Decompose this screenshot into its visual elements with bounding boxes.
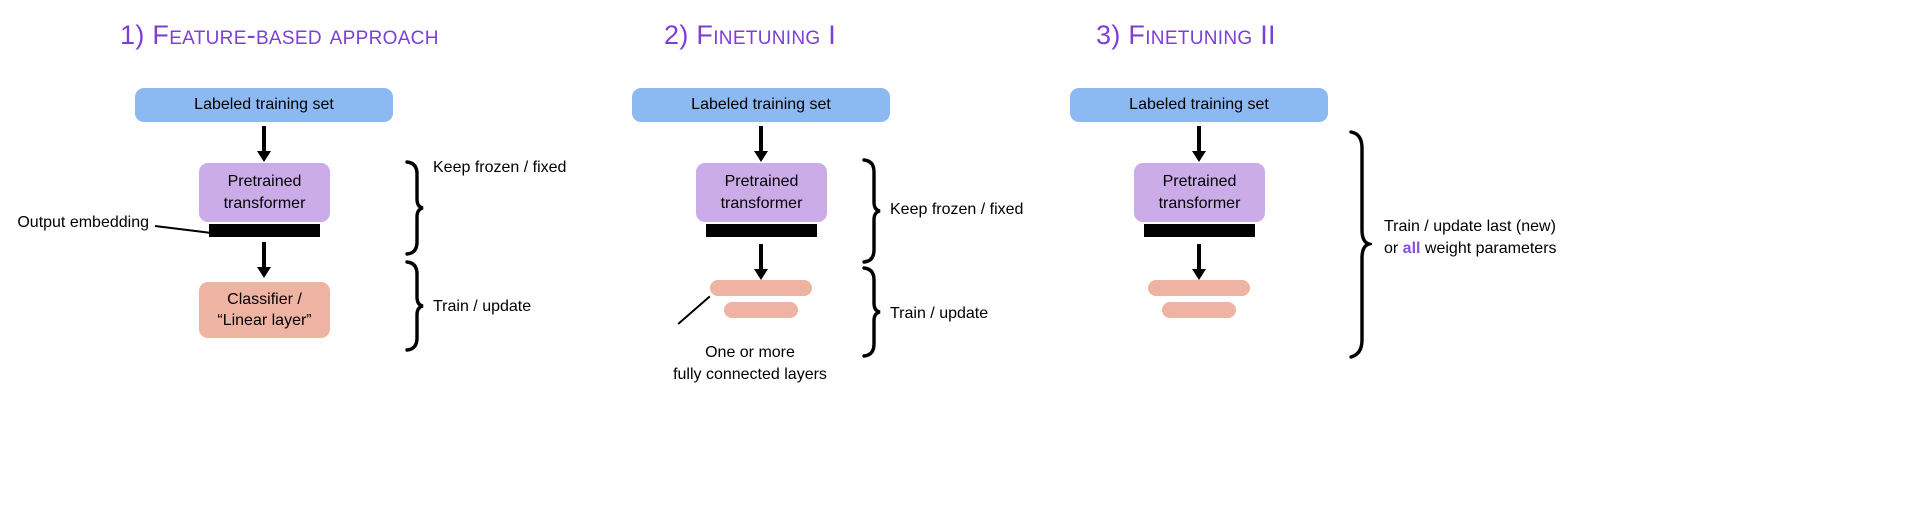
pretrained-transformer-box-1[interactable]: Pretrained transformer bbox=[199, 163, 330, 222]
column-2-title: 2) Finetuning I bbox=[664, 20, 836, 51]
brace-label-train-update-2: Train / update bbox=[890, 303, 988, 325]
pretrained-transformer-box-3-line1: Pretrained bbox=[1163, 171, 1237, 192]
fully-connected-layer-3-a[interactable] bbox=[1148, 280, 1250, 296]
brace-label-3-line2-before: or bbox=[1384, 240, 1403, 257]
dataset-box-2[interactable]: Labeled training set bbox=[632, 88, 890, 122]
brace-train-update-all-3 bbox=[1346, 130, 1372, 360]
pretrained-transformer-box-1-line2: transformer bbox=[224, 193, 306, 214]
brace-label-3-emphasis-all: all bbox=[1403, 240, 1421, 257]
pretrained-transformer-box-3-line2: transformer bbox=[1159, 193, 1241, 214]
output-embedding-bar-2 bbox=[706, 224, 817, 237]
column-3-title-text: Finetuning II bbox=[1128, 20, 1275, 50]
fully-connected-layer-2-b[interactable] bbox=[724, 302, 798, 318]
output-embedding-bar-1 bbox=[209, 224, 320, 237]
brace-label-keep-frozen-1: Keep frozen / fixed bbox=[433, 157, 566, 179]
brace-label-keep-frozen-2: Keep frozen / fixed bbox=[890, 199, 1023, 221]
output-embedding-leader-line bbox=[155, 225, 211, 233]
column-2-title-number: 2) bbox=[664, 20, 689, 50]
brace-keep-frozen-1 bbox=[403, 160, 425, 256]
pretrained-transformer-box-2-line1: Pretrained bbox=[725, 171, 799, 192]
column-1-title-number: 1) bbox=[120, 20, 145, 50]
brace-label-3-line2-after: weight parameters bbox=[1420, 240, 1556, 257]
column-1-title: 1) Feature-based approach bbox=[120, 20, 439, 51]
arrow-model-to-layers-3 bbox=[1179, 244, 1219, 280]
brace-label-train-update-all-3: Train / update last (new) or all weight … bbox=[1384, 216, 1557, 259]
fully-connected-layers-caption-line2: fully connected layers bbox=[600, 364, 900, 386]
fully-connected-layer-2-a[interactable] bbox=[710, 280, 812, 296]
diagram-canvas: 1) Feature-based approach Labeled traini… bbox=[0, 0, 1920, 526]
classifier-box-1-line2: “Linear layer” bbox=[217, 310, 311, 331]
fully-connected-layers-caption-line1: One or more bbox=[600, 342, 900, 364]
arrow-dataset-to-model-3 bbox=[1179, 126, 1219, 162]
column-3-title-number: 3) bbox=[1096, 20, 1121, 50]
dataset-box-3-label: Labeled training set bbox=[1129, 94, 1269, 115]
fully-connected-layers-leader-line bbox=[677, 296, 710, 325]
pretrained-transformer-box-1-line1: Pretrained bbox=[228, 171, 302, 192]
dataset-box-2-label: Labeled training set bbox=[691, 94, 831, 115]
output-embedding-label: Output embedding bbox=[0, 212, 149, 234]
brace-label-3-line2: or all weight parameters bbox=[1384, 238, 1557, 260]
arrow-dataset-to-model-1 bbox=[244, 126, 284, 162]
arrow-dataset-to-model-2 bbox=[741, 126, 781, 162]
classifier-box-1[interactable]: Classifier / “Linear layer” bbox=[199, 282, 330, 338]
dataset-box-1-label: Labeled training set bbox=[194, 94, 334, 115]
column-1-title-text: Feature-based approach bbox=[152, 20, 438, 50]
fully-connected-layers-caption: One or more fully connected layers bbox=[600, 342, 900, 385]
dataset-box-1[interactable]: Labeled training set bbox=[135, 88, 393, 122]
pretrained-transformer-box-3[interactable]: Pretrained transformer bbox=[1134, 163, 1265, 222]
output-embedding-bar-3 bbox=[1144, 224, 1255, 237]
pretrained-transformer-box-2[interactable]: Pretrained transformer bbox=[696, 163, 827, 222]
brace-train-update-2 bbox=[860, 266, 882, 358]
brace-label-3-line1: Train / update last (new) bbox=[1384, 216, 1557, 238]
brace-keep-frozen-2 bbox=[860, 158, 882, 264]
arrow-model-to-classifier-1 bbox=[244, 242, 284, 278]
column-feature-based-approach: 1) Feature-based approach Labeled traini… bbox=[0, 0, 640, 526]
column-2-title-text: Finetuning I bbox=[696, 20, 836, 50]
brace-train-update-1 bbox=[403, 260, 425, 352]
classifier-box-1-line1: Classifier / bbox=[227, 289, 302, 310]
column-3-title: 3) Finetuning II bbox=[1096, 20, 1276, 51]
arrow-model-to-layers-2 bbox=[741, 244, 781, 280]
brace-label-train-update-1: Train / update bbox=[433, 296, 531, 318]
fully-connected-layer-3-b[interactable] bbox=[1162, 302, 1236, 318]
pretrained-transformer-box-2-line2: transformer bbox=[721, 193, 803, 214]
dataset-box-3[interactable]: Labeled training set bbox=[1070, 88, 1328, 122]
column-finetuning-ii: 3) Finetuning II Labeled training set Pr… bbox=[1058, 0, 1920, 526]
